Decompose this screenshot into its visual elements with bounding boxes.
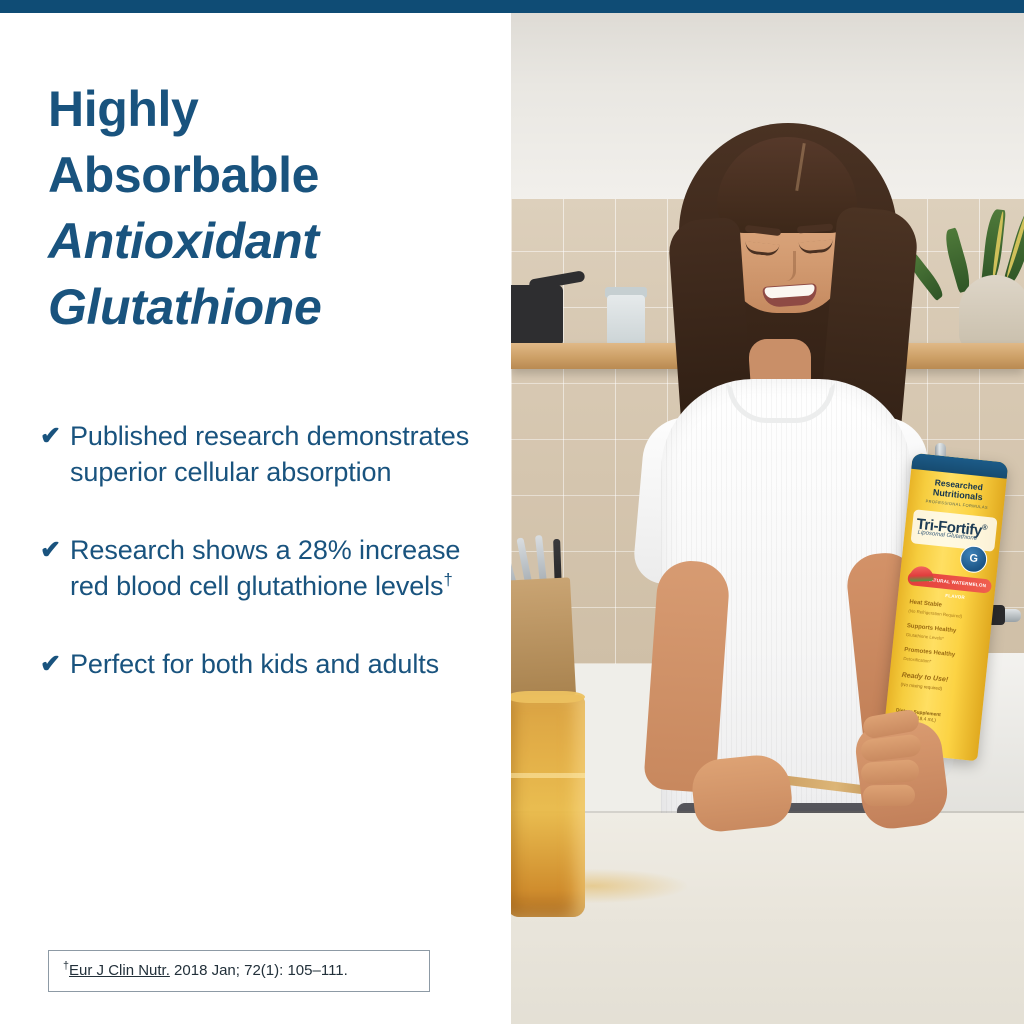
citation-text: †Eur J Clin Nutr. 2018 Jan; 72(1): 105–1… <box>49 962 348 980</box>
tube-benefit-list: Heat Stable(No Refrigeration Required) S… <box>902 599 987 679</box>
glass-shadow <box>569 869 687 903</box>
glass-rim <box>511 691 585 703</box>
check-icon: ✔ <box>40 646 70 682</box>
citation-box: †Eur J Clin Nutr. 2018 Jan; 72(1): 105–1… <box>48 950 430 992</box>
headline-line-1: Highly <box>48 76 478 142</box>
hand-left <box>690 752 795 834</box>
benefit-text: Perfect for both kids and adults <box>70 646 490 682</box>
benefit-text: Research shows a 28% increase red blood … <box>70 532 490 604</box>
page-headline: Highly Absorbable Antioxidant Glutathion… <box>48 76 478 340</box>
tube-benefit: Heat Stable(No Refrigeration Required) <box>908 599 987 622</box>
amber-glass <box>511 695 585 917</box>
teeth <box>764 284 815 298</box>
glass-liquid-line <box>511 773 585 778</box>
citation-rest: 2018 Jan; 72(1): 105–111. <box>170 962 348 979</box>
watermelon-icon <box>909 566 934 582</box>
nose <box>779 251 796 281</box>
copy-panel: Highly Absorbable Antioxidant Glutathion… <box>0 13 511 1024</box>
dagger-mark: † <box>443 570 452 589</box>
headline-line-4: Glutathione <box>48 274 478 340</box>
brand-logo: Researched Nutritionals PROFESSIONAL FOR… <box>917 476 998 514</box>
citation-journal: Eur J Clin Nutr. <box>69 962 170 979</box>
brand-top-bar <box>0 0 1024 13</box>
benefit-text: Published research demonstrates superior… <box>70 418 490 490</box>
lifestyle-photo: Researched Nutritionals PROFESSIONAL FOR… <box>511 13 1024 1024</box>
marketing-graphic: Highly Absorbable Antioxidant Glutathion… <box>0 0 1024 1024</box>
list-item: ✔ Research shows a 28% increase red bloo… <box>40 532 490 604</box>
list-item: ✔ Published research demonstrates superi… <box>40 418 490 490</box>
registered-mark: ® <box>982 522 988 531</box>
headline-line-2: Absorbable <box>48 142 478 208</box>
list-item: ✔ Perfect for both kids and adults <box>40 646 490 682</box>
benefit-list: ✔ Published research demonstrates superi… <box>40 418 490 682</box>
check-icon: ✔ <box>40 532 70 568</box>
tube-benefit: Promotes HealthyDetoxification* <box>903 647 982 670</box>
finger <box>860 759 919 785</box>
check-icon: ✔ <box>40 418 70 454</box>
tube-benefit: Supports HealthyGlutathione Levels* <box>906 623 985 646</box>
finger <box>863 785 915 807</box>
kitchen-counter <box>511 813 1024 1024</box>
headline-line-3: Antioxidant <box>48 208 478 274</box>
